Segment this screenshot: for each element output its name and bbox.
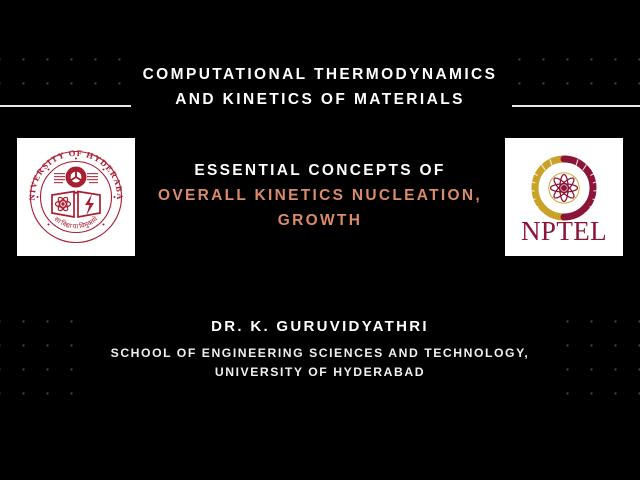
lecture-title-line-1: ESSENTIAL CONCEPTS OF	[152, 158, 488, 183]
nptel-wordmark: NPTEL	[521, 216, 607, 246]
lecture-title-line-2: OVERALL KINETICS NUCLEATION,	[152, 183, 488, 208]
course-title: COMPUTATIONAL THERMODYNAMICS AND KINETIC…	[0, 62, 640, 112]
course-title-line-2: AND KINETICS OF MATERIALS	[0, 87, 640, 112]
presenter-affiliation: SCHOOL OF ENGINEERING SCIENCES AND TECHN…	[0, 344, 640, 383]
presenter-name: DR. K. GURUVIDYATHRI	[0, 318, 640, 335]
course-title-line-1: COMPUTATIONAL THERMODYNAMICS	[0, 62, 640, 87]
lecture-title-line-3: GROWTH	[152, 208, 488, 233]
nptel-emblem-icon: NPTEL	[512, 145, 616, 249]
affiliation-line-2: UNIVERSITY OF HYDERABAD	[0, 363, 640, 382]
affiliation-line-1: SCHOOL OF ENGINEERING SCIENCES AND TECHN…	[0, 344, 640, 363]
university-of-hyderabad-logo: UNIVERSITY OF HYDERABAD सा विद्या या विम…	[17, 138, 135, 256]
lecture-title: ESSENTIAL CONCEPTS OF OVERALL KINETICS N…	[152, 158, 488, 233]
presenter-block: DR. K. GURUVIDYATHRI SCHOOL OF ENGINEERI…	[0, 318, 640, 383]
nptel-logo: NPTEL	[505, 138, 623, 256]
uoh-emblem-icon: UNIVERSITY OF HYDERABAD सा विद्या या विम…	[24, 145, 128, 249]
